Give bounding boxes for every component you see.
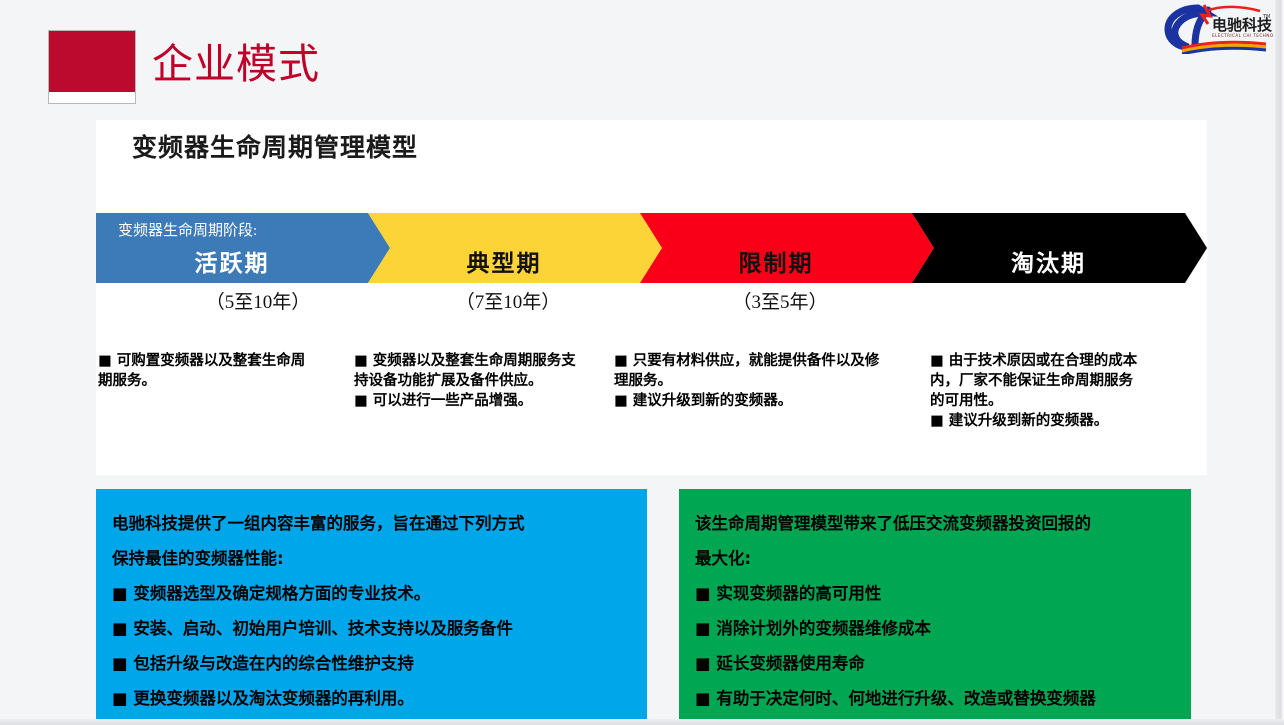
green-box-line: ■ 实现变频器的高可用性 [695,576,1177,611]
stage-bullets-2: ■ 只要有材料供应，就能提供备件以及修 理服务。 ■ 建议升级到新的变频器。 [614,352,904,411]
blue-box-line: ■ 安装、启动、初始用户培训、技术支持以及服务备件 [112,611,633,646]
blue-box-line: 保持最佳的变频器性能: [112,541,633,576]
page-title: 企业模式 [152,44,320,85]
stage-name-3: 淘汰期 [890,244,1207,278]
bullet-line: ■ 只要有材料供应，就能提供备件以及修 [614,352,904,371]
green-box-line: 该生命周期管理模型带来了低压交流变频器投资回报的 [695,506,1177,541]
lifecycle-model-panel: 变频器生命周期管理模型 活跃期 典型期 限制期 [96,120,1207,475]
bullet-line: 内，厂家不能保证生命周期服务 [930,372,1180,391]
band-label: 变频器生命周期阶段: [118,219,257,240]
green-box-line: 最大化: [695,541,1177,576]
panel-title: 变频器生命周期管理模型 [132,128,418,164]
stage-name-2: 限制期 [618,244,934,278]
green-box-line: ■ 消除计划外的变频器维修成本 [695,611,1177,646]
stage-name-1: 典型期 [346,244,662,278]
benefits-green-box: 该生命周期管理模型带来了低压交流变频器投资回报的 最大化: ■ 实现变频器的高可… [679,489,1191,721]
lifecycle-chevron-band: 活跃期 典型期 限制期 淘汰期 变频器生命周期阶段: [96,213,1207,283]
logo-svg: 电驰科技 ELECTRICAL CHI TECHNOLOGY TM [1162,2,1274,54]
green-box-line: ■ 延长变频器使用寿命 [695,646,1177,681]
svg-text:ELECTRICAL CHI TECHNOLOGY: ELECTRICAL CHI TECHNOLOGY [1212,33,1274,38]
stage-bullets-0: ■ 可购置变频器以及整套生命周 期服务。 [98,352,350,391]
bullet-line: ■ 可以进行一些产品增强。 [354,392,606,411]
stage-bullets-1: ■ 变频器以及整套生命周期服务支 持设备功能扩展及备件供应。 ■ 可以进行一些产… [354,352,606,411]
blue-box-line: ■ 包括升级与改造在内的综合性维护支持 [112,646,633,681]
stage-years-1: （7至10年） [368,287,648,314]
bullet-line: 持设备功能扩展及备件供应。 [354,372,606,391]
bullet-line: ■ 建议升级到新的变频器。 [930,412,1180,431]
bullet-line: ■ 建议升级到新的变频器。 [614,392,904,411]
stage-bullet-columns: ■ 可购置变频器以及整套生命周 期服务。 ■ 变频器以及整套生命周期服务支 持设… [96,352,1207,472]
bullet-line: 理服务。 [614,372,904,391]
services-blue-box: 电驰科技提供了一组内容丰富的服务，旨在通过下列方式 保持最佳的变频器性能: ■ … [96,489,647,721]
chevron-stage-3[interactable]: 淘汰期 [912,213,1207,283]
right-edge-shadow [1275,0,1284,725]
stage-bullets-3: ■ 由于技术原因或在合理的成本 内，厂家不能保证生命周期服务 的可用性。 ■ 建… [930,352,1180,431]
blue-box-line: ■ 更换变频器以及淘汰变频器的再利用。 [112,681,633,716]
stage-years-0: （5至10年） [118,287,398,314]
blue-box-line: 电驰科技提供了一组内容丰富的服务，旨在通过下列方式 [112,506,633,541]
stage-name-0: 活跃期 [74,244,390,278]
green-box-line: ■ 有助于决定何时、何地进行升级、改造或替换变频器 [695,681,1177,716]
stage-years-2: （3至5年） [640,287,920,314]
bullet-line: ■ 变频器以及整套生命周期服务支 [354,352,606,371]
slide-canvas: 企业模式 电驰科技 ELECTRICAL CHI TECHNOLOGY TM 变… [0,0,1284,725]
svg-text:TM: TM [1262,14,1270,20]
blue-box-line: ■ 变频器选型及确定规格方面的专业技术。 [112,576,633,611]
bullet-line: 期服务。 [98,372,350,391]
bullet-line: ■ 可购置变频器以及整套生命周 [98,352,350,371]
bullet-line: ■ 由于技术原因或在合理的成本 [930,352,1180,371]
bottom-edge-shadow [0,719,1284,725]
bullet-line: 的可用性。 [930,392,1180,411]
title-accent-block [48,30,136,104]
dianchi-technology-logo: 电驰科技 ELECTRICAL CHI TECHNOLOGY TM [1162,2,1274,54]
